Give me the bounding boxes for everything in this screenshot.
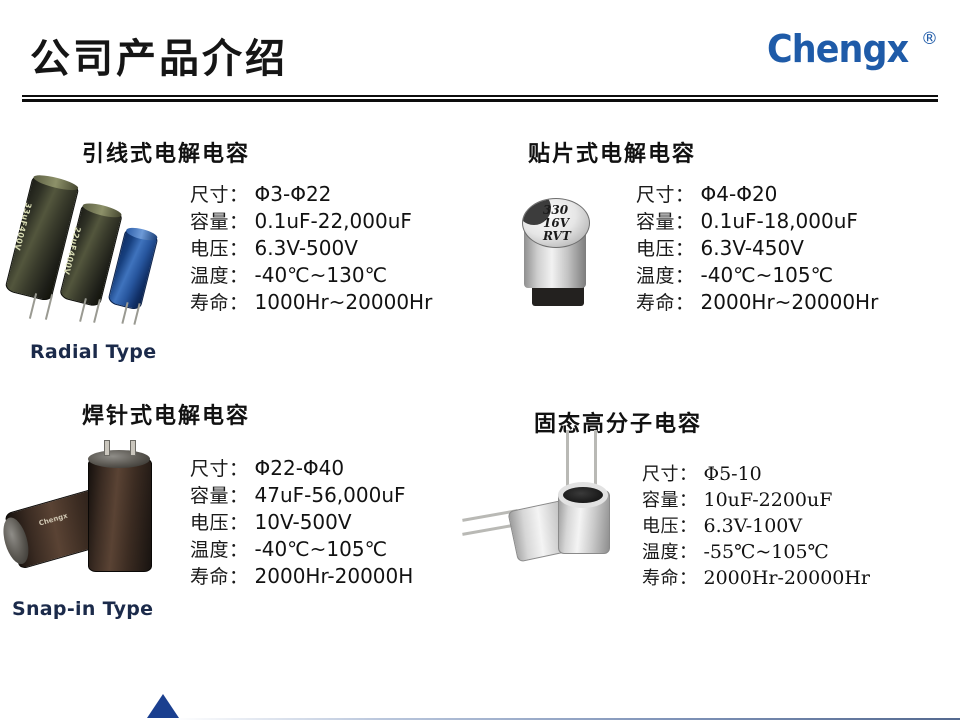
capacitor-top-icon [558,482,608,508]
spec-row: 容量： 0.1uF-18,000uF [636,207,878,234]
spec-row: 寿命： 2000Hr-20000H [190,562,413,589]
spec-value-capacitance: 0.1uF-22,000uF [255,207,433,234]
spec-label-capacitance: 容量： [636,207,701,234]
capacitor-top-icon [88,450,150,468]
product-photo-radial: 33uF400V 22uF400V [12,168,192,343]
smd-marking-series: RVT [543,230,571,243]
spec-row: 寿命： 2000Hr~20000Hr [636,288,878,315]
spec-row: 尺寸： Φ3-Φ22 [190,180,432,207]
capacitor-top-icon [82,201,123,220]
spec-label-capacitance: 容量： [190,207,255,234]
capacitor-top-icon [0,515,33,567]
spec-label-lifetime: 寿命： [636,288,701,315]
spec-row: 容量： 47uF-56,000uF [190,481,413,508]
spec-value-size: Φ22-Φ40 [255,454,414,481]
section-title-smd: 贴片式电解电容 [528,136,696,168]
spec-row: 电压： 6.3V-500V [190,234,432,261]
slide: 公司产品介绍 Chengx ® 引线式电解电容 33uF400V 22uF400… [0,0,960,720]
spec-table-snapin: 尺寸： Φ22-Φ40 容量： 47uF-56,000uF 电压： 10V-50… [190,454,413,589]
spec-label-voltage: 电压： [636,234,701,261]
spec-label-voltage: 电压： [190,508,255,535]
spec-label-temperature: 温度： [190,261,255,288]
logo-wordmark: Chengx [767,30,908,68]
photo-caption-snapin: Snap-in Type [12,598,153,620]
spec-table-radial: 尺寸： Φ3-Φ22 容量： 0.1uF-22,000uF 电压： 6.3V-5… [190,180,432,315]
section-title-polymer: 固态高分子电容 [534,406,702,438]
spec-value-lifetime: 2000Hr-20000H [255,562,414,589]
spec-label-temperature: 温度： [642,538,704,564]
spec-label-size: 尺寸： [190,454,255,481]
divider-line-top [22,95,938,97]
spec-row: 寿命： 1000Hr~20000Hr [190,288,432,315]
spec-label-lifetime: 寿命： [190,562,255,589]
capacitor-marking: 33uF400V [12,202,33,252]
spec-row: 尺寸： Φ4-Φ20 [636,180,878,207]
spec-value-temperature: -40℃~105℃ [701,261,879,288]
spec-value-size: Φ3-Φ22 [255,180,433,207]
spec-label-temperature: 温度： [636,261,701,288]
spec-row: 温度： -40℃~105℃ [636,261,878,288]
capacitor-snap-pin [130,440,136,456]
spec-row: 温度： -40℃~130℃ [190,261,432,288]
spec-label-lifetime: 寿命： [642,564,704,590]
spec-row: 容量： 10uF-2200uF [642,486,870,512]
footer-triangle-marker [147,694,179,718]
spec-row: 容量： 0.1uF-22,000uF [190,207,432,234]
capacitor-top-icon [125,225,158,242]
spec-value-capacitance: 0.1uF-18,000uF [701,207,879,234]
spec-value-size: Φ4-Φ20 [701,180,879,207]
divider-line-bottom [22,99,938,102]
spec-value-temperature: -40℃~130℃ [255,261,433,288]
spec-row: 尺寸： Φ5-10 [642,460,870,486]
spec-label-voltage: 电压： [642,512,704,538]
spec-value-lifetime: 1000Hr~20000Hr [255,288,433,315]
spec-label-size: 尺寸： [636,180,701,207]
spec-label-temperature: 温度： [190,535,255,562]
spec-label-voltage: 电压： [190,234,255,261]
spec-value-temperature: -40℃~105℃ [255,535,414,562]
spec-label-capacitance: 容量： [642,486,704,512]
product-photo-smd: 330 16V RVT [510,192,630,322]
slide-header: 公司产品介绍 Chengx ® [0,0,960,100]
product-photo-polymer [496,442,661,617]
spec-value-voltage: 10V-500V [255,508,414,535]
spec-row: 电压： 6.3V-450V [636,234,878,261]
product-section-polymer: 固态高分子电容 尺寸： Φ5-10 容量： 10uF-2200uF [534,406,934,636]
spec-row: 电压： 10V-500V [190,508,413,535]
smd-top-face: 330 16V RVT [522,198,590,248]
capacitor-snapin-standing [88,458,152,572]
capacitor-snap-pin [104,440,110,456]
section-title-snapin: 焊针式电解电容 [82,398,250,430]
capacitor-marking: Chengx [38,512,68,528]
spec-label-size: 尺寸： [642,460,704,486]
spec-label-lifetime: 寿命： [190,288,255,315]
spec-value-capacitance: 10uF-2200uF [704,486,871,512]
spec-value-capacitance: 47uF-56,000uF [255,481,414,508]
spec-row: 温度： -40℃~105℃ [190,535,413,562]
spec-label-size: 尺寸： [190,180,255,207]
spec-row: 温度： -55℃~105℃ [642,538,870,564]
spec-value-voltage: 6.3V-450V [701,234,879,261]
registered-trademark-icon: ® [921,31,938,48]
company-logo: Chengx ® [767,30,938,68]
spec-label-capacitance: 容量： [190,481,255,508]
spec-value-size: Φ5-10 [704,460,871,486]
product-section-snapin: 焊针式电解电容 Chengx Snap-in Type 尺寸： Φ22-Φ40 [82,398,482,638]
spec-row: 尺寸： Φ22-Φ40 [190,454,413,481]
header-divider [22,95,938,102]
spec-value-lifetime: 2000Hr-20000Hr [704,564,871,590]
spec-row: 电压： 6.3V-100V [642,512,870,538]
capacitor-top-icon [32,172,79,193]
spec-value-voltage: 6.3V-500V [255,234,433,261]
product-photo-snapin: Chengx [10,444,195,594]
spec-table-polymer: 尺寸： Φ5-10 容量： 10uF-2200uF 电压： 6.3V-100V … [642,460,870,590]
page-title: 公司产品介绍 [30,26,288,84]
spec-value-voltage: 6.3V-100V [704,512,871,538]
spec-value-lifetime: 2000Hr~20000Hr [701,288,879,315]
product-section-radial: 引线式电解电容 33uF400V 22uF400V Ra [82,136,482,366]
spec-table-smd: 尺寸： Φ4-Φ20 容量： 0.1uF-18,000uF 电压： 6.3V-4… [636,180,878,315]
photo-caption-radial: Radial Type [30,341,156,363]
spec-row: 寿命： 2000Hr-20000Hr [642,564,870,590]
spec-value-temperature: -55℃~105℃ [704,538,871,564]
product-section-smd: 贴片式电解电容 330 16V RVT 尺寸： Φ4-Φ20 容量： 0.1uF… [528,136,928,366]
section-title-radial: 引线式电解电容 [82,136,250,168]
